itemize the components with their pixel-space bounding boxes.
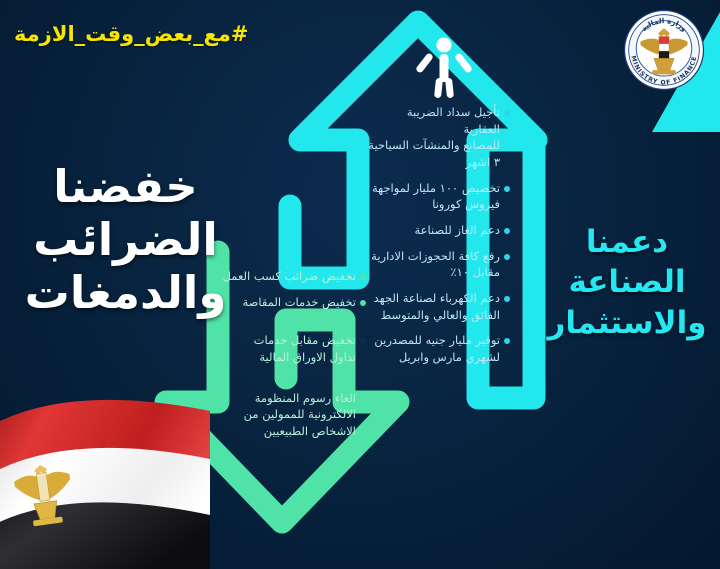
list-item: تخفيض ضرائب كسب العمل [214, 268, 366, 285]
heading-right: دعمنا الصناعة والاستثمار [542, 222, 712, 343]
list-item-label: رفع كافة الحجوزات الادارية مقابل ١٠٪ [368, 248, 500, 281]
bullet-dot-icon [504, 338, 510, 344]
heading-left-line-2: الضرائب [18, 213, 233, 266]
list-item-label: دعم الكهرباء لصناعة الجهد الفائق والعالي… [368, 290, 500, 323]
heading-right-line-3: والاستثمار [542, 303, 712, 343]
list-item: دعم الغاز للصناعة [368, 222, 510, 239]
bullet-dot-icon [360, 396, 366, 402]
bullet-dot-icon [504, 186, 510, 192]
bullet-dot-icon [360, 274, 366, 280]
list-item: تخصيص ١٠٠ مليار لمواجهة فيروس كورونا [368, 180, 510, 213]
list-item: رفع كافة الحجوزات الادارية مقابل ١٠٪ [368, 248, 510, 281]
bullet-dot-icon [504, 110, 510, 116]
bullet-dot-icon [360, 300, 366, 306]
list-item-label: توفير مليار جنيه للمصدرين لشهري مارس واب… [368, 332, 500, 365]
egypt-flag-icon [0, 369, 210, 569]
person-raised-arms-icon [416, 36, 472, 98]
bullet-dot-icon [504, 228, 510, 234]
list-item: تخفيض مقابل خدمات تداول الاوراق المالية [214, 332, 366, 365]
bullet-dot-icon [360, 338, 366, 344]
list-item-label: تخفيض ضرائب كسب العمل [214, 268, 356, 285]
bullet-dot-icon [504, 296, 510, 302]
bullet-dot-icon [504, 254, 510, 260]
support-measures-list: تأجيل سداد الضريبة العقارية للمصانع والم… [368, 104, 510, 375]
list-item: الغاء رسوم المنظومة الالكترونية للممولين… [214, 390, 366, 440]
list-item: دعم الكهرباء لصناعة الجهد الفائق والعالي… [368, 290, 510, 323]
ministry-of-finance-logo: وزارة المالية MINISTRY OF FINANCE [622, 8, 706, 92]
list-item: تأجيل سداد الضريبة العقارية للمصانع والم… [368, 104, 510, 171]
list-item: توفير مليار جنيه للمصدرين لشهري مارس واب… [368, 332, 510, 365]
heading-left-line-1: خفضنا [18, 160, 233, 213]
heading-left-line-3: والدمغات [18, 266, 233, 319]
list-item-label: تخفيض مقابل خدمات تداول الاوراق المالية [214, 332, 356, 365]
list-item-label: تخفيض خدمات المقاصة [214, 294, 356, 311]
infographic-poster: #مع_بعض_وقت_الازمة وزارة المالية MINISTR… [0, 0, 720, 569]
heading-left: خفضنا الضرائب والدمغات [18, 160, 233, 319]
reduction-measures-list: تخفيض ضرائب كسب العمل تخفيض خدمات المقاص… [214, 268, 366, 449]
list-item-label: تأجيل سداد الضريبة العقارية للمصانع والم… [368, 104, 500, 171]
campaign-hashtag: #مع_بعض_وقت_الازمة [14, 22, 249, 46]
list-item-label: دعم الغاز للصناعة [368, 222, 500, 239]
list-item-label: تخصيص ١٠٠ مليار لمواجهة فيروس كورونا [368, 180, 500, 213]
heading-right-line-2: الصناعة [542, 262, 712, 302]
list-item: تخفيض خدمات المقاصة [214, 294, 366, 311]
heading-right-line-1: دعمنا [542, 222, 712, 262]
list-item-label: الغاء رسوم المنظومة الالكترونية للممولين… [214, 390, 356, 440]
